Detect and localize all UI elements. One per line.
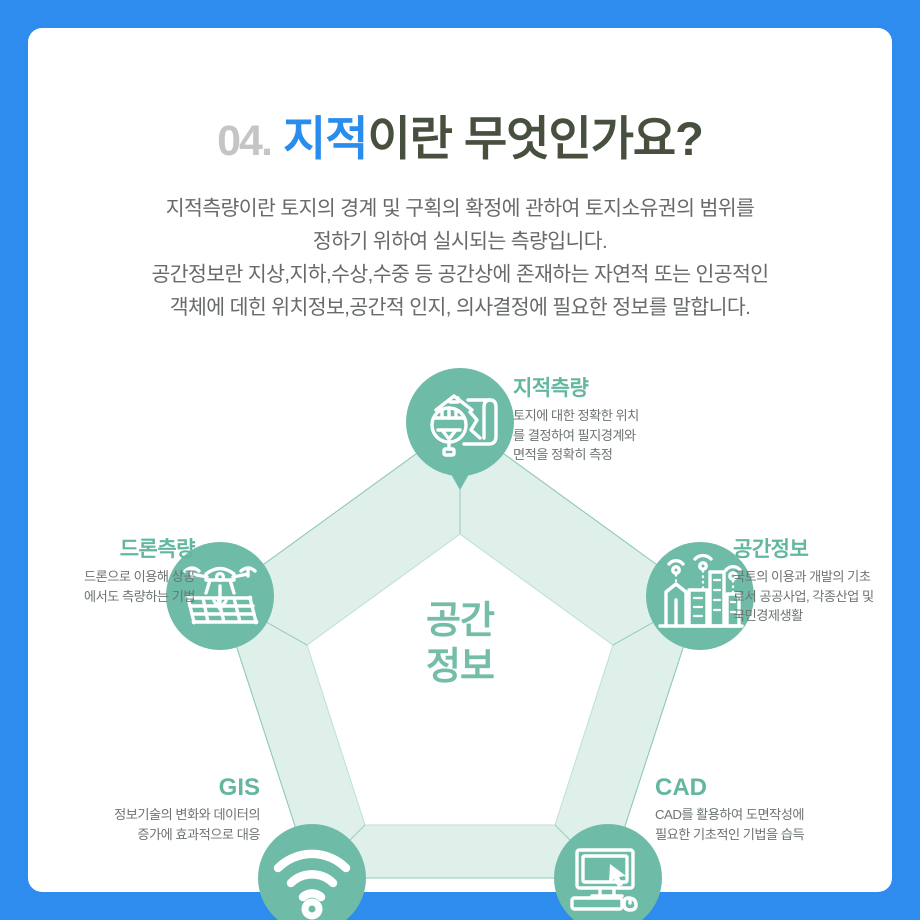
node-desc-line: 토지에 대한 정확한 위치 (513, 406, 639, 426)
node-desc-drone: 드론으로 이용해 상공 에서도 측량하는 기법 (10, 567, 195, 606)
node-title-spatial: 공간정보 (733, 537, 920, 563)
node-title-drone: 드론측량 (10, 537, 195, 563)
node-desc-spatial: 국토의 이용과 개발의 기초 로서 공공사업, 각종산업 및 국민경제생활 (733, 567, 920, 626)
diagram-center-label: 공간 정보 (385, 598, 535, 690)
node-text-spatial-information: 공간정보 국토의 이용과 개발의 기초 로서 공공사업, 각종산업 및 국민경제… (733, 537, 920, 626)
node-desc-cad: CAD를 활용하여 도면작성에 필요한 기초적인 기법을 습득 (655, 805, 910, 844)
node-desc-line: 국민경제생활 (733, 606, 920, 626)
pentagon-diagram: .ic { fill:none; stroke:#ffffff; stroke-… (0, 360, 920, 920)
lead-line-2: 정하기 위하여 실시되는 측량입니다. (60, 225, 860, 258)
node-desc-line: 증가에 효과적으로 대응 (30, 825, 260, 845)
node-title-gis: GIS (30, 775, 260, 801)
node-desc-line: 정보기술의 변화와 데이터의 (30, 805, 260, 825)
title-number: 04. (217, 117, 271, 165)
title-highlight: 지적 (283, 112, 367, 165)
node-desc-line: 로서 공공사업, 각종산업 및 (733, 587, 920, 607)
node-desc-cadastral: 토지에 대한 정확한 위치 를 결정하여 필지경계와 면적을 정확히 측정 (513, 406, 639, 465)
center-label-line-1: 공간 (385, 598, 535, 644)
lead-line-1: 지적측량이란 토지의 경계 및 구획의 확정에 관하여 토지소유권의 범위를 (60, 192, 860, 225)
node-desc-line: 면적을 정확히 측정 (513, 445, 639, 465)
node-desc-gis: 정보기술의 변화와 데이터의 증가에 효과적으로 대응 (30, 805, 260, 844)
center-label-line-2: 정보 (385, 644, 535, 690)
node-desc-line: 를 결정하여 필지경계와 (513, 426, 639, 446)
node-title-cadastral: 지적측량 (513, 376, 639, 402)
page-title: 04. 지적이란 무엇인가요? (0, 100, 920, 169)
infographic-page: 04. 지적이란 무엇인가요? 지적측량이란 토지의 경계 및 구획의 확정에 … (0, 0, 920, 920)
node-desc-line: 필요한 기초적인 기법을 습득 (655, 825, 910, 845)
node-text-gis: GIS 정보기술의 변화와 데이터의 증가에 효과적으로 대응 (30, 775, 260, 844)
node-desc-line: 에서도 측량하는 기법 (10, 587, 195, 607)
node-desc-line: 국토의 이용과 개발의 기초 (733, 567, 920, 587)
node-circle-cadastral (406, 368, 514, 476)
lead-line-4: 객체에 데힌 위치정보,공간적 인지, 의사결정에 필요한 정보를 말합니다. (60, 291, 860, 324)
node-text-drone-survey: 드론측량 드론으로 이용해 상공 에서도 측량하는 기법 (10, 537, 195, 606)
node-text-cadastral-survey: 지적측량 토지에 대한 정확한 위치 를 결정하여 필지경계와 면적을 정확히 … (513, 376, 639, 465)
lead-paragraph: 지적측량이란 토지의 경계 및 구획의 확정에 관하여 토지소유권의 범위를 정… (60, 192, 860, 324)
title-rest: 이란 무엇인가요? (367, 112, 702, 165)
node-desc-line: CAD를 활용하여 도면작성에 (655, 805, 910, 825)
node-text-cad: CAD CAD를 활용하여 도면작성에 필요한 기초적인 기법을 습득 (655, 775, 910, 844)
lead-line-3: 공간정보란 지상,지하,수상,수중 등 공간상에 존재하는 자연적 또는 인공적… (60, 258, 860, 291)
node-title-cad: CAD (655, 775, 910, 801)
node-desc-line: 드론으로 이용해 상공 (10, 567, 195, 587)
